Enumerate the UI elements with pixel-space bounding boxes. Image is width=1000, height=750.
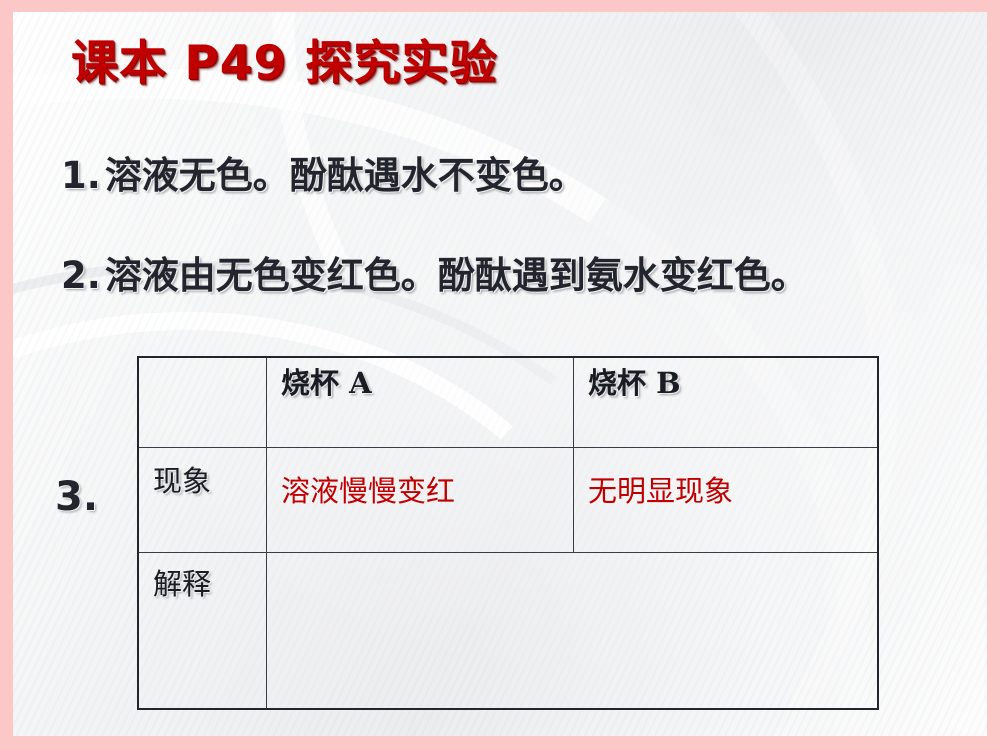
- slide-content: 课本 P49探究实验 1.溶液无色。酚酞遇水不变色。 2.溶液由无色变红色。酚酞…: [13, 12, 987, 736]
- table-cell-phenomenon-b-text: 无明显现象: [588, 456, 733, 509]
- experiment-table: 烧杯 A 烧杯 B 现象 溶液慢慢变红 无明显现象: [137, 356, 879, 710]
- item-3-marker: 3.: [55, 474, 98, 520]
- slide-canvas: 课本 P49探究实验 1.溶液无色。酚酞遇水不变色。 2.溶液由无色变红色。酚酞…: [13, 12, 987, 736]
- slide-frame: 课本 P49探究实验 1.溶液无色。酚酞遇水不变色。 2.溶液由无色变红色。酚酞…: [0, 0, 1000, 750]
- statement-2-number: 2.: [61, 254, 101, 297]
- table-header-row: 烧杯 A 烧杯 B: [139, 358, 877, 447]
- statement-1-number: 1.: [61, 154, 101, 197]
- table-row-phenomenon-label-cell: 现象: [139, 448, 266, 552]
- table-cell-explanation-merged: [266, 553, 877, 708]
- statement-1-text: 溶液无色。酚酞遇水不变色。: [105, 154, 586, 197]
- table-header-beaker-b: 烧杯 B: [573, 358, 877, 447]
- table-header-beaker-a-label: 烧杯 A: [281, 366, 372, 401]
- table-cell-phenomenon-b: 无明显现象: [573, 448, 877, 552]
- table-row-explanation-label: 解释: [153, 561, 211, 602]
- table-corner-cell: [139, 358, 266, 447]
- table-row-phenomenon: 现象 溶液慢慢变红 无明显现象: [139, 447, 877, 552]
- table-cell-phenomenon-a-text: 溶液慢慢变红: [281, 456, 455, 509]
- table-row-phenomenon-label: 现象: [153, 456, 211, 499]
- table-header-beaker-b-label: 烧杯 B: [588, 366, 681, 401]
- table-row-explanation-label-cell: 解释: [139, 553, 266, 708]
- table-cell-phenomenon-a: 溶液慢慢变红: [266, 448, 573, 552]
- statement-1: 1.溶液无色。酚酞遇水不变色。: [61, 155, 586, 198]
- statement-2-text: 溶液由无色变红色。酚酞遇到氨水变红色。: [105, 254, 808, 297]
- slide-title-part1: 课本 P49: [71, 36, 287, 91]
- slide-title-part2: 探究实验: [305, 36, 497, 91]
- statement-2: 2.溶液由无色变红色。酚酞遇到氨水变红色。: [61, 255, 808, 298]
- table-row-explanation: 解释: [139, 552, 877, 708]
- slide-title: 课本 P49探究实验: [71, 38, 497, 90]
- table-header-beaker-a: 烧杯 A: [266, 358, 573, 447]
